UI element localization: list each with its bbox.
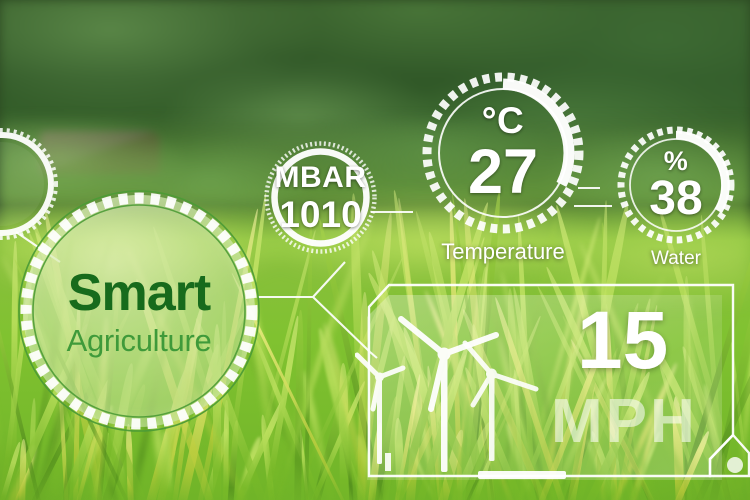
- pressure-value: 1010: [279, 196, 361, 233]
- wind-panel[interactable]: 15 MPH: [355, 283, 750, 498]
- water-gauge-readout: % 38: [615, 124, 737, 246]
- brand-line-1: Smart: [68, 267, 210, 319]
- brand-text: Smart Agriculture: [14, 186, 264, 436]
- temperature-gauge[interactable]: °C 27 Temperature: [420, 70, 586, 236]
- temperature-unit-label: °C: [482, 102, 525, 139]
- wind-speed-unit: MPH: [551, 391, 698, 453]
- status-dot-icon: [727, 457, 743, 473]
- wind-speed-value: 15: [577, 300, 668, 382]
- temperature-caption: Temperature: [441, 239, 565, 265]
- water-caption: Water: [651, 248, 701, 270]
- water-gauge[interactable]: % 38 Water: [615, 124, 737, 246]
- wind-turbine-icon: [401, 319, 496, 472]
- wind-turbine-icon: [465, 343, 536, 461]
- temperature-value: 27: [468, 141, 538, 204]
- temperature-gauge-readout: °C 27: [420, 70, 586, 236]
- brand-line-2: Agriculture: [67, 325, 212, 356]
- pressure-gauge-readout: MBAR 1010: [263, 140, 378, 255]
- pressure-unit-label: MBAR: [275, 163, 367, 193]
- panel-tick-mark: [385, 453, 391, 471]
- water-value: 38: [649, 175, 702, 223]
- water-unit-label: %: [664, 148, 689, 175]
- dashboard-scene: Smart Agriculture MBAR 1010 °C 27 Temper…: [0, 0, 750, 500]
- panel-slider-handle: [478, 471, 566, 479]
- brand-badge[interactable]: Smart Agriculture: [14, 186, 264, 436]
- wind-turbine-icon: [357, 355, 403, 464]
- pressure-gauge[interactable]: MBAR 1010: [263, 140, 378, 255]
